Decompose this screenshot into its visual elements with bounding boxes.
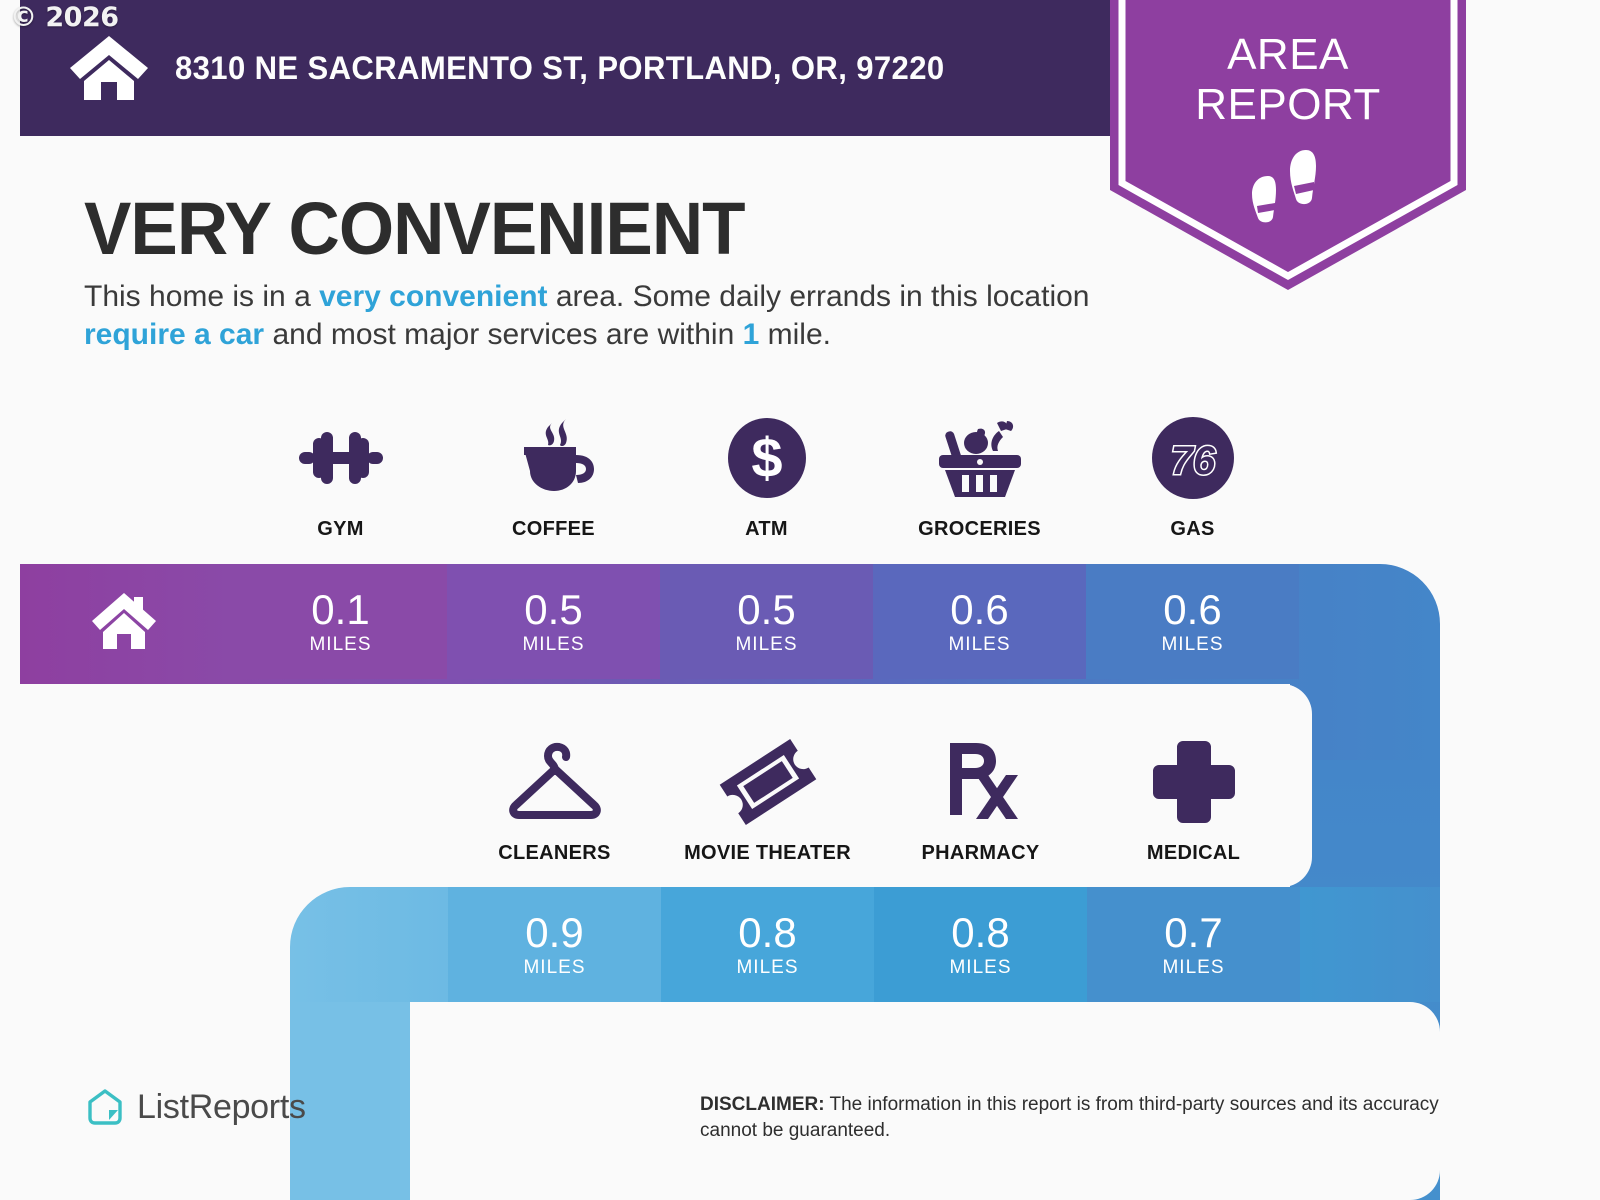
amenity-label: MEDICAL — [1147, 842, 1240, 865]
distance-unit: MILES — [309, 634, 371, 656]
disclaimer-label: DISCLAIMER: — [700, 1094, 825, 1115]
distance-cell: 0.9 MILES — [448, 887, 661, 1002]
distance-unit: MILES — [948, 634, 1010, 656]
distance-value: 0.8 — [951, 911, 1009, 955]
distance-cell: 0.5 MILES — [660, 564, 873, 679]
area-report-badge: AREA REPORT — [1110, 0, 1466, 300]
distance-unit: MILES — [736, 957, 798, 979]
amenity-label: MOVIE THEATER — [684, 842, 851, 865]
distance-cell: 0.6 MILES — [1086, 564, 1299, 679]
svg-text:$: $ — [751, 426, 782, 489]
distance-unit: MILES — [1162, 957, 1224, 979]
rx-icon — [940, 739, 1022, 825]
medical-cross-icon — [1150, 738, 1238, 826]
distance-unit: MILES — [1161, 634, 1223, 656]
listreports-logo: ListReports — [85, 1087, 306, 1127]
distance-value: 0.8 — [738, 911, 796, 955]
distance-value: 0.9 — [525, 911, 583, 955]
amenity-groceries: GROCERIES — [873, 412, 1086, 541]
distance-row-1: 0.1 MILES 0.5 MILES 0.5 MILES 0.6 MILES … — [234, 564, 1299, 679]
distance-unit: MILES — [523, 957, 585, 979]
home-icon — [90, 591, 158, 651]
disclaimer: DISCLAIMER: The information in this repo… — [700, 1092, 1500, 1144]
distance-value: 0.5 — [737, 588, 795, 632]
dumbbell-icon — [295, 428, 387, 488]
distance-cell: 0.8 MILES — [661, 887, 874, 1002]
amenity-label: CLEANERS — [498, 842, 610, 865]
distance-value: 0.7 — [1164, 911, 1222, 955]
amenity-coffee: COFFEE — [447, 412, 660, 541]
movie-ticket-icon — [718, 738, 818, 826]
distance-cell: 0.7 MILES — [1087, 887, 1300, 1002]
svg-text:76: 76 — [1170, 439, 1215, 483]
grocery-basket-icon — [933, 417, 1027, 499]
coffee-cup-icon — [510, 419, 598, 497]
distance-value: 0.5 — [524, 588, 582, 632]
amenity-label: GAS — [1170, 518, 1214, 541]
distance-cell: 0.1 MILES — [234, 564, 447, 679]
amenity-movie-theater: MOVIE THEATER — [661, 736, 874, 865]
amenity-icon-row-1: GYM COFFEE $ ATM — [234, 412, 1299, 541]
badge-line-2: REPORT — [1110, 80, 1466, 130]
amenity-icon-row-2: CLEANERS MOVIE THEATER PHARMACY MEDICAL — [448, 736, 1300, 865]
dollar-circle-icon: $ — [726, 417, 808, 499]
distance-cell: 0.5 MILES — [447, 564, 660, 679]
amenity-medical: MEDICAL — [1087, 736, 1300, 865]
amenity-label: COFFEE — [512, 518, 595, 541]
copyright-watermark: © 2026 — [10, 2, 119, 33]
distance-row-2: 0.9 MILES 0.8 MILES 0.8 MILES 0.7 MILES — [448, 887, 1300, 1002]
amenity-atm: $ ATM — [660, 412, 873, 541]
amenity-label: GYM — [317, 518, 363, 541]
distance-unit: MILES — [735, 634, 797, 656]
gas-76-icon: 76 — [1151, 416, 1235, 500]
amenity-gas: 76 GAS — [1086, 412, 1299, 541]
amenity-label: PHARMACY — [922, 842, 1040, 865]
distance-unit: MILES — [949, 957, 1011, 979]
badge-line-1: AREA — [1110, 30, 1466, 80]
distance-unit: MILES — [522, 634, 584, 656]
clothes-hanger-icon — [502, 741, 608, 823]
distance-value: 0.6 — [1163, 588, 1221, 632]
footprints-icon — [1238, 142, 1338, 228]
amenity-cleaners: CLEANERS — [448, 736, 661, 865]
distance-cell: 0.8 MILES — [874, 887, 1087, 1002]
listreports-wordmark: ListReports — [137, 1088, 306, 1127]
distance-value: 0.6 — [950, 588, 1008, 632]
amenity-pharmacy: PHARMACY — [874, 736, 1087, 865]
amenity-label: GROCERIES — [918, 518, 1041, 541]
distance-cell: 0.6 MILES — [873, 564, 1086, 679]
listreports-house-icon — [85, 1087, 125, 1127]
amenity-label: ATM — [745, 518, 788, 541]
amenity-gym: GYM — [234, 412, 447, 541]
distance-value: 0.1 — [311, 588, 369, 632]
badge-label: AREA REPORT — [1110, 30, 1466, 130]
